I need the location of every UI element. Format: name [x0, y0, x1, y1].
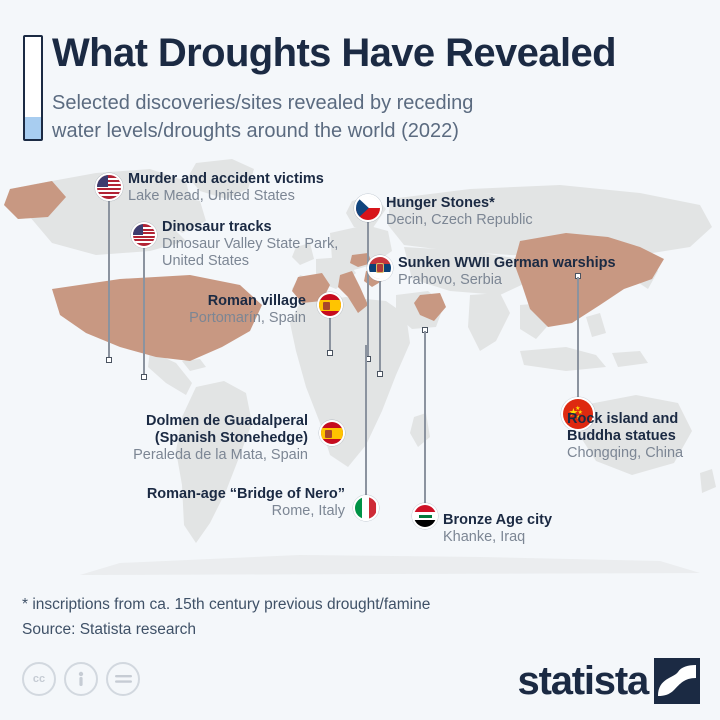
page-title: What Droughts Have Revealed [52, 31, 616, 76]
marker-lake-mead[interactable] [108, 173, 109, 363]
label-portomarin: Roman village Portomarín, Spain [40, 293, 306, 327]
pin-stem [365, 345, 367, 497]
flag-us-icon [95, 173, 123, 201]
marker-hunger-stones[interactable] [367, 194, 368, 364]
label-title: Roman village [40, 293, 306, 310]
footnote-text: * inscriptions from ca. 15th century pre… [22, 592, 430, 642]
label-hunger-stones: Hunger Stones* Decin, Czech Republic [386, 195, 533, 229]
water-level-gauge-icon [23, 35, 43, 141]
pin-stem [424, 331, 426, 505]
statista-logo-mark [654, 658, 700, 704]
pin-endpoint [377, 371, 383, 377]
flag-cz-icon [354, 194, 382, 222]
world-map: Murder and accident victims Lake Mead, U… [0, 155, 720, 580]
flag-es-icon [319, 420, 345, 446]
label-location: Decin, Czech Republic [386, 212, 533, 229]
cc-nd-equals-icon[interactable] [106, 662, 140, 696]
label-dinosaur-valley: Dinosaur tracks Dinosaur Valley State Pa… [162, 219, 338, 270]
cc-icon[interactable]: cc [22, 662, 56, 696]
label-location: Rome, Italy [60, 503, 345, 520]
pin-endpoint [327, 350, 333, 356]
label-title: Murder and accident victims [128, 171, 324, 188]
gauge-water-fill [25, 117, 41, 139]
flag-es-icon [317, 292, 343, 318]
label-title: Hunger Stones* [386, 195, 533, 212]
page-subtitle: Selected discoveries/sites revealed by r… [52, 90, 473, 145]
label-title: Sunken WWII German warships [398, 255, 616, 272]
label-location: Prahovo, Serbia [398, 272, 616, 289]
label-title: Rock island and Buddha statues [567, 411, 683, 445]
label-title: Dinosaur tracks [162, 219, 338, 236]
pin-endpoint [106, 357, 112, 363]
label-prahovo: Sunken WWII German warships Prahovo, Ser… [398, 255, 616, 289]
label-location: Chongqing, China [567, 445, 683, 462]
marker-chongqing[interactable]: ★ ★ ★ ★ [577, 273, 578, 433]
pin-stem [329, 318, 331, 352]
marker-guadalperal[interactable] [331, 420, 332, 450]
marker-portomarin[interactable] [329, 292, 330, 362]
pin-stem [367, 222, 369, 358]
label-khanke: Bronze Age city Khanke, Iraq [443, 512, 552, 546]
label-title: Dolmen de Guadalperal (Spanish Stonehedg… [40, 413, 308, 447]
flag-it-icon [353, 495, 379, 521]
label-title: Roman-age “Bridge of Nero” [60, 486, 345, 503]
equals-glyph [115, 674, 132, 684]
flag-us-icon [131, 222, 157, 248]
label-location: Lake Mead, United States [128, 188, 324, 205]
marker-prahovo[interactable] [379, 255, 380, 380]
flag-rs-icon [367, 255, 393, 281]
marker-khanke[interactable] [424, 327, 425, 527]
person-glyph [73, 670, 89, 688]
pin-stem [108, 201, 110, 359]
statista-wordmark: statista [518, 661, 648, 701]
label-lake-mead: Murder and accident victims Lake Mead, U… [128, 171, 324, 205]
label-guadalperal: Dolmen de Guadalperal (Spanish Stonehedg… [40, 413, 308, 464]
label-title: Bronze Age city [443, 512, 552, 529]
header: What Droughts Have Revealed Selected dis… [0, 0, 720, 160]
pin-stem [577, 277, 579, 401]
label-location: Khanke, Iraq [443, 529, 552, 546]
pin-endpoint [141, 374, 147, 380]
label-chongqing: Rock island and Buddha statues Chongqing… [567, 411, 683, 462]
pin-stem [379, 281, 381, 373]
cc-by-person-icon[interactable] [64, 662, 98, 696]
marker-bridge-of-nero[interactable] [365, 345, 366, 495]
label-location: Portomarín, Spain [40, 310, 306, 327]
label-location: Peraleda de la Mata, Spain [40, 447, 308, 464]
statista-logo[interactable]: statista [518, 658, 700, 704]
label-bridge-of-nero: Roman-age “Bridge of Nero” Rome, Italy [60, 486, 345, 520]
flag-iq-icon [412, 503, 438, 529]
label-location: Dinosaur Valley State Park, United State… [162, 236, 338, 270]
infographic-root: What Droughts Have Revealed Selected dis… [0, 0, 720, 720]
